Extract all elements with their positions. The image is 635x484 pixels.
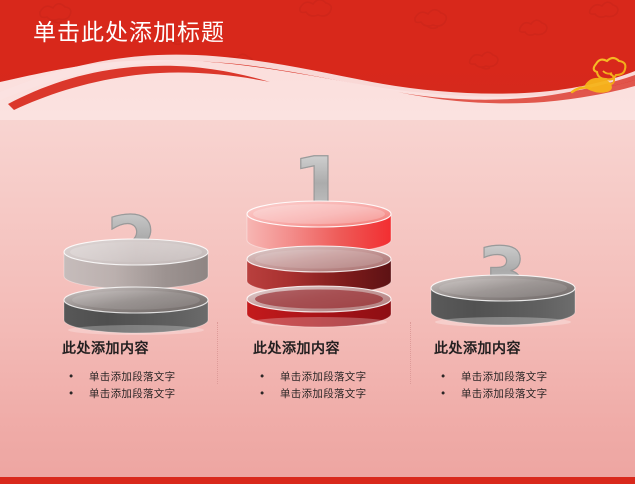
list-item-text: 单击添加段落文字 — [89, 388, 175, 400]
list-item[interactable]: • 单击添加段落文字 — [434, 386, 609, 403]
list-item[interactable]: • 单击添加段落文字 — [434, 369, 609, 386]
content-column-center: 此处添加内容 • 单击添加段落文字 • 单击添加段落文字 — [253, 340, 428, 403]
column-heading[interactable]: 此处添加内容 — [62, 340, 237, 358]
slide-canvas: 单击此处添加标题 2 — [0, 0, 635, 484]
list-item[interactable]: • 单击添加段落文字 — [62, 386, 237, 403]
content-column-left: 此处添加内容 • 单击添加段落文字 • 单击添加段落文字 — [62, 340, 237, 403]
bullet-icon: • — [259, 386, 266, 403]
list-item-text: 单击添加段落文字 — [461, 371, 547, 383]
list-item-text: 单击添加段落文字 — [461, 388, 547, 400]
bullet-icon: • — [68, 369, 75, 386]
list-item[interactable]: • 单击添加段落文字 — [253, 369, 428, 386]
column-heading[interactable]: 此处添加内容 — [253, 340, 428, 358]
list-item-text: 单击添加段落文字 — [280, 388, 366, 400]
disc — [64, 239, 208, 289]
slide-header: 单击此处添加标题 — [0, 0, 635, 120]
bullet-list: • 单击添加段落文字 • 单击添加段落文字 — [253, 369, 428, 403]
disc — [247, 201, 391, 253]
bullet-list: • 单击添加段落文字 • 单击添加段落文字 — [62, 369, 237, 403]
list-item[interactable]: • 单击添加段落文字 — [62, 369, 237, 386]
bullet-list: • 单击添加段落文字 • 单击添加段落文字 — [434, 369, 609, 403]
list-item[interactable]: • 单击添加段落文字 — [253, 386, 428, 403]
page-title[interactable]: 单击此处添加标题 — [33, 17, 225, 47]
bottom-accent-bar — [0, 477, 635, 484]
stack-column-left — [60, 238, 212, 336]
column-heading[interactable]: 此处添加内容 — [434, 340, 609, 358]
list-item-text: 单击添加段落文字 — [89, 371, 175, 383]
stack-column-center — [243, 198, 395, 328]
list-item-text: 单击添加段落文字 — [280, 371, 366, 383]
bullet-icon: • — [440, 386, 447, 403]
bullet-icon: • — [440, 369, 447, 386]
bullet-icon: • — [259, 369, 266, 386]
stack-column-right — [427, 272, 579, 336]
bullet-icon: • — [68, 386, 75, 403]
content-column-right: 此处添加内容 • 单击添加段落文字 • 单击添加段落文字 — [434, 340, 609, 403]
